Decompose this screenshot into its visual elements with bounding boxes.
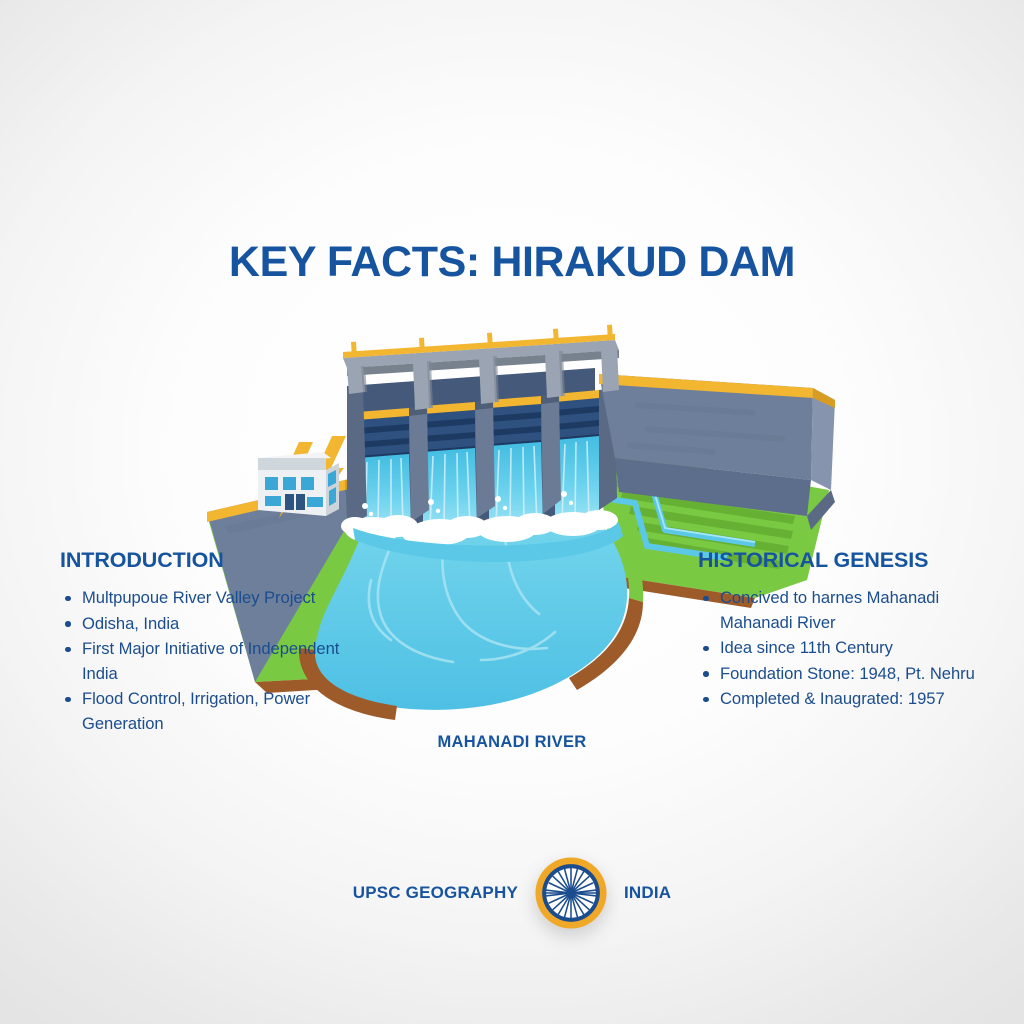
footer-right-text: INDIA bbox=[624, 883, 671, 903]
list-item: Odisha, India bbox=[60, 612, 360, 637]
historical-genesis-bullet-list: Concived to harnes Mahanadi Mahanadi Riv… bbox=[698, 586, 998, 712]
introduction-heading: INTRODUCTION bbox=[60, 548, 360, 573]
river-caption: MAHANADI RIVER bbox=[0, 733, 1024, 752]
list-item: Foundation Stone: 1948, Pt. Nehru bbox=[698, 662, 998, 687]
list-item: First Major Initiative of Independent In… bbox=[60, 637, 360, 686]
list-item: Completed & Inaugrated: 1957 bbox=[698, 687, 998, 712]
footer-left-text: UPSC GEOGRAPHY bbox=[353, 883, 518, 903]
page-title: KEY FACTS: HIRAKUD DAM bbox=[0, 238, 1024, 287]
spillway-gate-4 bbox=[555, 390, 599, 524]
footer-branding: UPSC GEOGRAPHY bbox=[0, 838, 1024, 948]
ashoka-chakra-icon bbox=[534, 856, 608, 930]
spillway-gate-2 bbox=[423, 402, 477, 532]
introduction-column: INTRODUCTION Multpupoue River Valley Pro… bbox=[60, 548, 360, 738]
list-item: Multpupoue River Valley Project bbox=[60, 586, 360, 611]
spillway-gate-3 bbox=[489, 396, 543, 530]
powerhouse-door bbox=[296, 494, 305, 510]
list-item: Flood Control, Irrigation, Power Generat… bbox=[60, 687, 360, 736]
powerhouse-door bbox=[285, 494, 294, 510]
list-item: Idea since 11th Century bbox=[698, 636, 998, 661]
historical-genesis-column: HISTORICAL GENESIS Concived to harnes Ma… bbox=[698, 548, 998, 713]
list-item: Concived to harnes Mahanadi Mahanadi Riv… bbox=[698, 586, 998, 635]
introduction-bullet-list: Multpupoue River Valley Project Odisha, … bbox=[60, 586, 360, 737]
historical-genesis-heading: HISTORICAL GENESIS bbox=[698, 548, 998, 573]
poster-canvas: KEY FACTS: HIRAKUD DAM bbox=[0, 0, 1024, 1024]
